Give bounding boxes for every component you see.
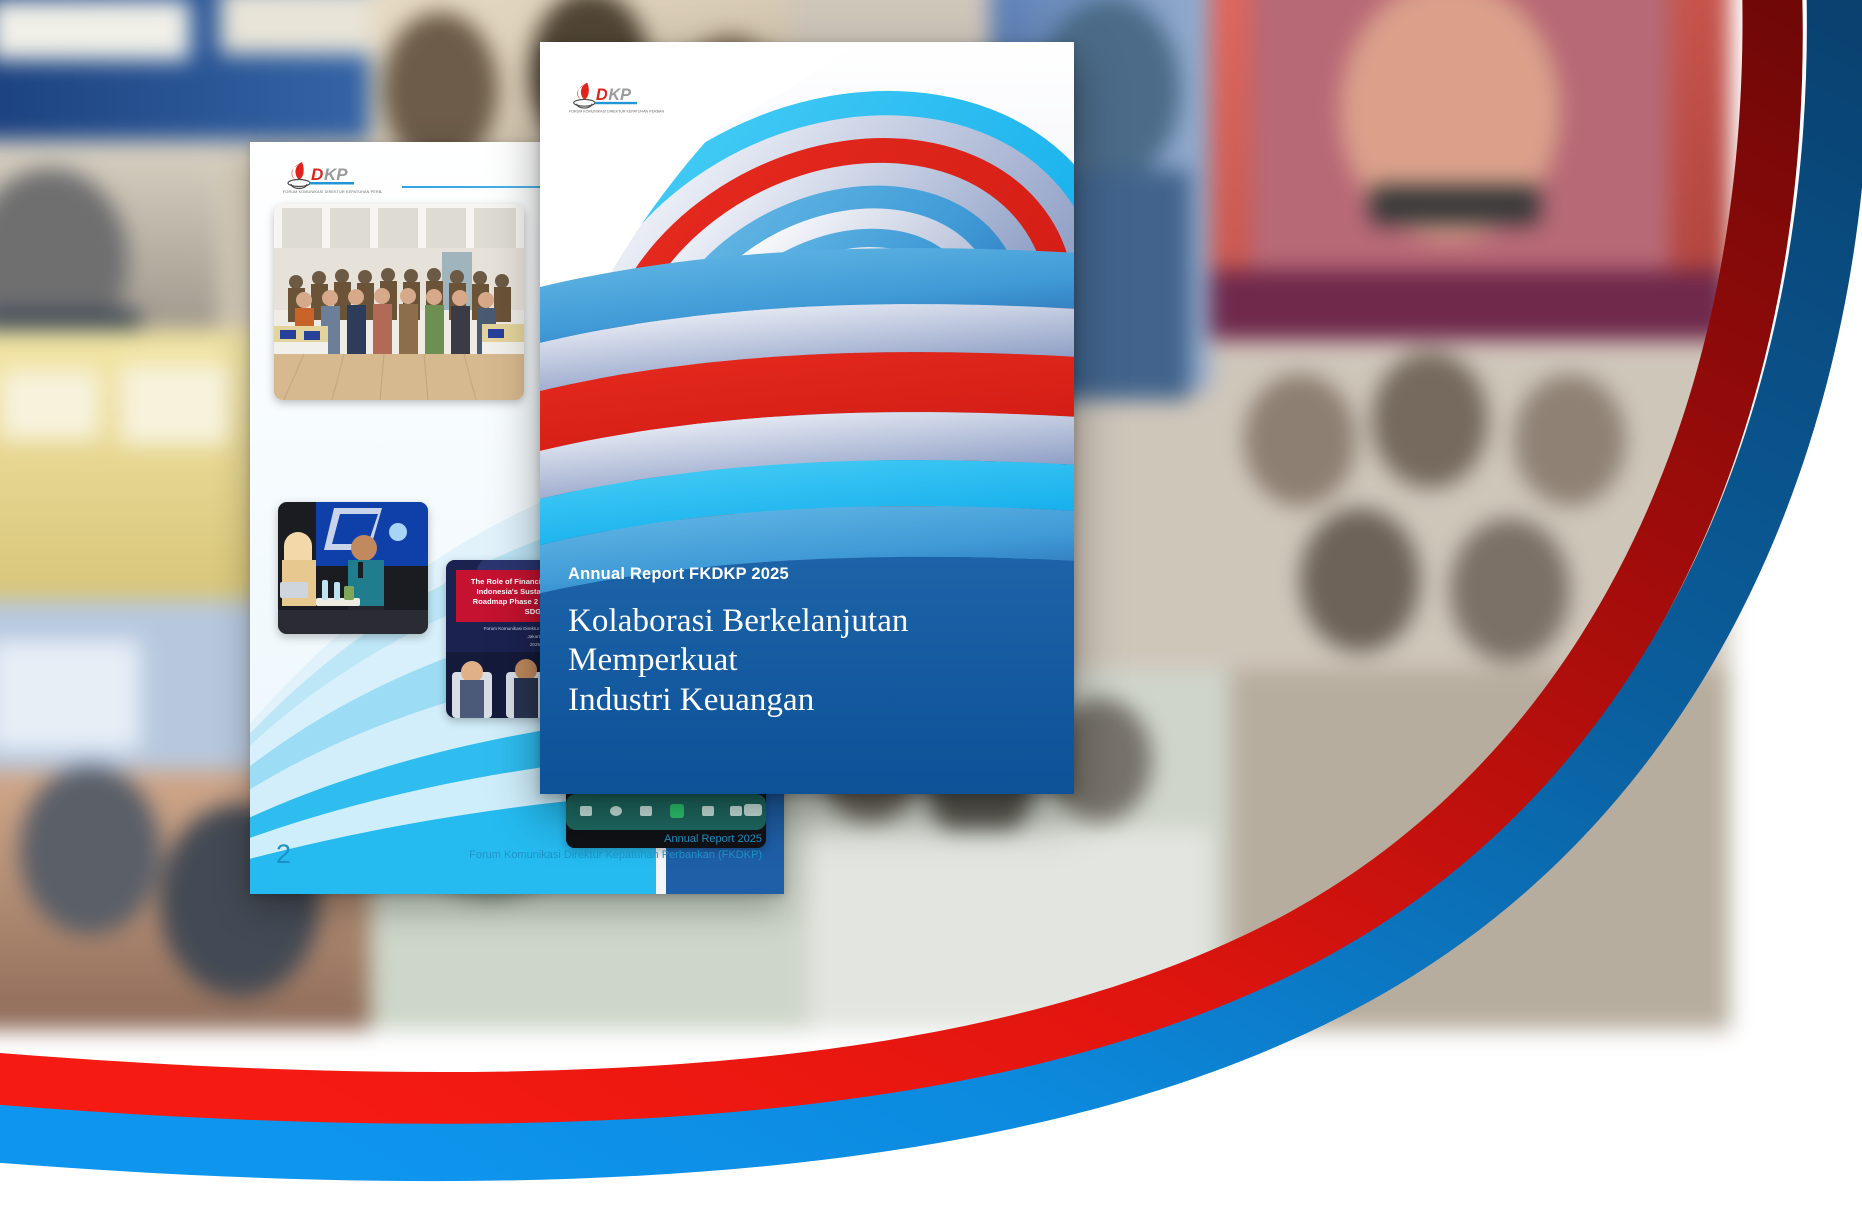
svg-text:2025: 2025 <box>530 642 541 647</box>
photo-group-seminar <box>274 204 524 400</box>
svg-text:KP: KP <box>324 165 348 184</box>
fkdkp-logo: D KP FORUM KOMUNIKASI DIREKTUR KEPATUHAN… <box>568 80 664 121</box>
fkdkp-logo: D KP FORUM KOMUNIKASI DIREKTUR KEPATUHAN… <box>282 160 382 201</box>
logo-tagline: FORUM KOMUNIKASI DIREKTUR KEPATUHAN PERB… <box>283 190 382 194</box>
footer-line-2: Forum Komunikasi Direktur Kepatuhan Perb… <box>469 848 762 864</box>
cover-text-block: Annual Report FKDKP 2025 Kolaborasi Berk… <box>568 565 909 720</box>
svg-text:D: D <box>311 165 323 184</box>
screenshot-canvas: D KP FORUM KOMUNIKASI DIREKTUR KEPATUHAN… <box>0 0 1862 1229</box>
cover-title-line-1: Kolaborasi Berkelanjutan <box>568 602 909 641</box>
cover-title: Kolaborasi Berkelanjutan Memperkuat Indu… <box>568 602 909 720</box>
cover-kicker: Annual Report FKDKP 2025 <box>568 565 909 584</box>
photo-panel-discussion <box>278 502 428 634</box>
cover-title-line-2: Memperkuat <box>568 641 909 680</box>
logo-letter-d: D <box>596 86 608 104</box>
page-two-footer: Annual Report 2025 Forum Komunikasi Dire… <box>469 832 762 864</box>
document-front-cover[interactable]: D KP FORUM KOMUNIKASI DIREKTUR KEPATUHAN… <box>540 42 1074 794</box>
logo-letters-kp: KP <box>608 86 631 104</box>
logo-tagline: FORUM KOMUNIKASI DIREKTUR KEPATUHAN PERB… <box>569 109 664 113</box>
cover-title-line-3: Industri Keuangan <box>568 681 909 720</box>
page-number: 2 <box>276 839 291 870</box>
footer-line-1: Annual Report 2025 <box>469 832 762 848</box>
